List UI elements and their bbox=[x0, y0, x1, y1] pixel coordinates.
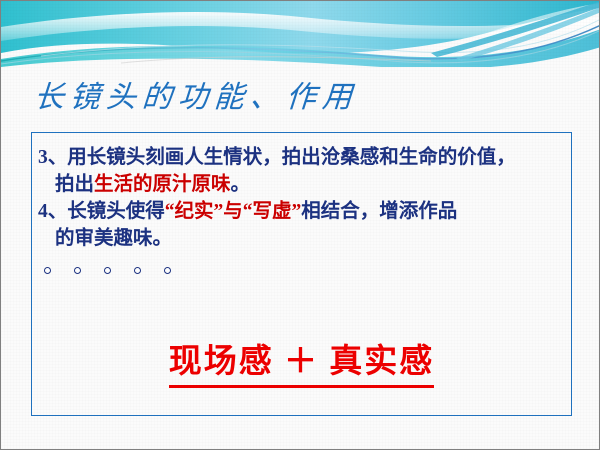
slide-title: 长镜头的功能、作用 bbox=[33, 79, 360, 117]
list-item-highlight: “纪实”与“写虚” bbox=[165, 201, 302, 222]
list-item-text-3: 。 bbox=[231, 174, 251, 195]
list-item-highlight: 生活的原汁原味 bbox=[94, 174, 231, 195]
list-item-text-2: 的审美趣味。 bbox=[55, 228, 172, 249]
list-item: 3、用长镜头刻画人生情状，拍出沧桑感和生命的价值， 拍出生活的原汁原味。 bbox=[38, 144, 567, 198]
content-box: 3、用长镜头刻画人生情状，拍出沧桑感和生命的价值， 拍出生活的原汁原味。 4、长… bbox=[31, 132, 572, 416]
list-item-text-post: 相结合，增添作品 bbox=[301, 201, 457, 222]
wave-banner-svg bbox=[1, 1, 600, 67]
list-item-text: 用长镜头刻画人生情状，拍出沧桑感和生命的价值， bbox=[67, 147, 516, 168]
ellipsis-dot bbox=[44, 267, 51, 274]
conclusion-line: 现场感 ＋ 真实感 bbox=[32, 341, 571, 388]
ellipsis-dot bbox=[104, 267, 111, 274]
ellipsis-dot bbox=[164, 267, 171, 274]
ellipsis-dot bbox=[134, 267, 141, 274]
decorative-wave-banner bbox=[1, 1, 600, 67]
conclusion-text: 现场感 ＋ 真实感 bbox=[169, 341, 435, 388]
list-item-text: 长镜头使得 bbox=[67, 201, 165, 222]
ellipsis-dot bbox=[74, 267, 81, 274]
ellipsis-dots bbox=[38, 258, 567, 280]
list-item-number: 3、 bbox=[38, 147, 67, 168]
list-item-number: 4、 bbox=[38, 201, 67, 222]
presentation-slide: 长镜头的功能、作用 3、用长镜头刻画人生情状，拍出沧桑感和生命的价值， 拍出生活… bbox=[0, 0, 600, 450]
list-item-text-2: 拍出 bbox=[55, 174, 94, 195]
body-list: 3、用长镜头刻画人生情状，拍出沧桑感和生命的价值， 拍出生活的原汁原味。 4、长… bbox=[38, 144, 567, 280]
list-item: 4、长镜头使得“纪实”与“写虚”相结合，增添作品 的审美趣味。 bbox=[38, 198, 567, 252]
